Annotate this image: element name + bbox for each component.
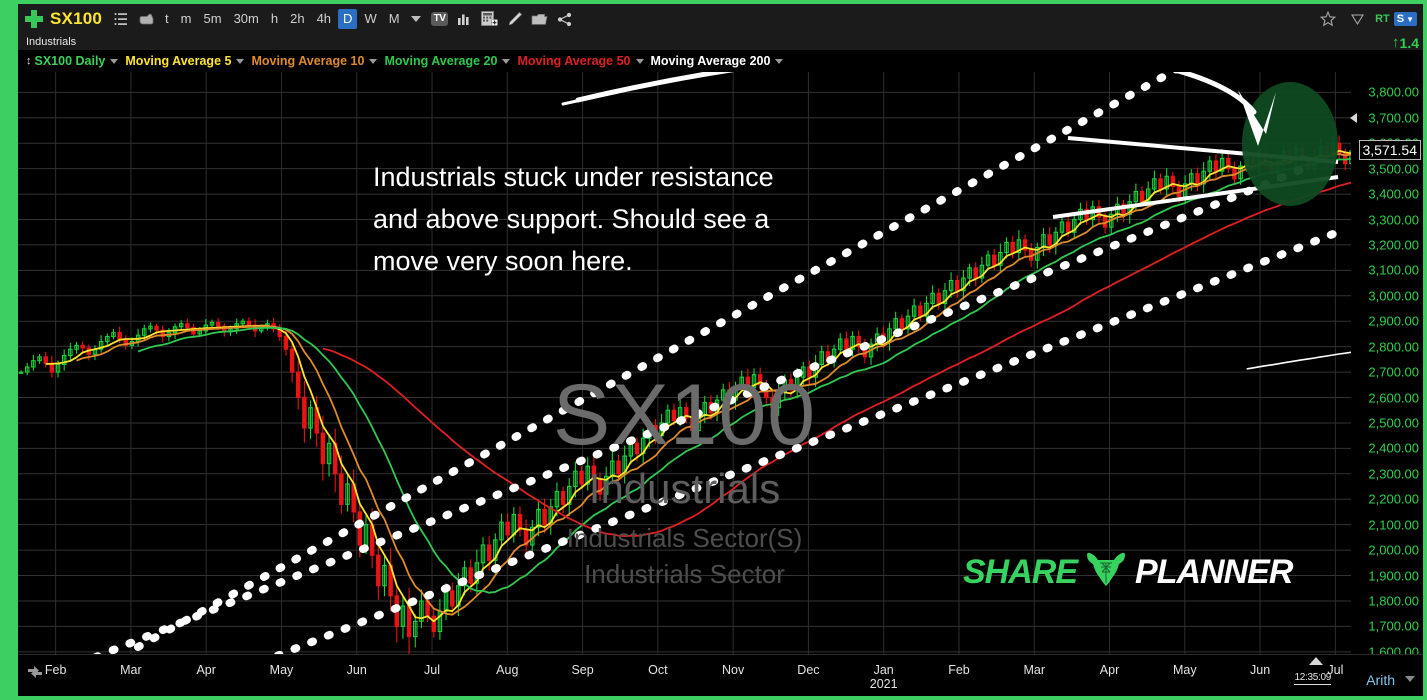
time-tick-month: Jun — [347, 663, 367, 677]
s-badge[interactable]: S ▼ — [1394, 12, 1417, 26]
candle-body — [407, 606, 410, 637]
price-tick-label: 2,500.00 — [1368, 415, 1419, 430]
timeframe-d[interactable]: D — [338, 9, 357, 29]
timeframe-5m[interactable]: 5m — [199, 9, 227, 29]
candle-body — [654, 425, 657, 435]
legend-label-ma50: Moving Average 50 — [517, 54, 630, 68]
price-change-value: 1.4 — [1400, 35, 1419, 51]
refresh-icon[interactable] — [24, 661, 46, 688]
time-tick-month: May — [270, 663, 294, 677]
price-tick-label: 2,300.00 — [1368, 466, 1419, 481]
timeframe-m-monthly[interactable]: M — [384, 9, 405, 29]
up-arrow-icon: ↑ — [1392, 34, 1400, 51]
time-tick-label: May — [1173, 663, 1197, 677]
time-tick-month: May — [1173, 663, 1197, 677]
candle-body — [580, 471, 583, 484]
time-tick-label: Mar — [1023, 663, 1045, 677]
candle-body — [1066, 222, 1069, 232]
time-tick-label: Apr — [196, 663, 215, 677]
time-tick-label: Apr — [1100, 663, 1119, 677]
clock-label: 12:35:09 — [1294, 672, 1331, 685]
legend-item-ma200[interactable]: Moving Average 200 — [651, 54, 784, 68]
candle-body — [487, 545, 490, 560]
candle-body — [543, 509, 546, 524]
candle-body — [919, 306, 922, 316]
chevron-down-icon[interactable] — [411, 16, 421, 22]
candle-body — [617, 461, 620, 474]
candle-body — [216, 322, 219, 326]
candle-body — [672, 410, 675, 420]
price-change-indicator: ↑ 1.4 — [1392, 34, 1419, 51]
price-tick-label: 3,400.00 — [1368, 187, 1419, 202]
price-tick-label: 3,200.00 — [1368, 237, 1419, 252]
chevron-down-icon[interactable] — [1405, 676, 1415, 682]
candle-body — [845, 339, 848, 349]
price-tick-label: 3,800.00 — [1368, 85, 1419, 100]
time-tick-label: Dec — [797, 663, 819, 677]
price-tick-label: 2,700.00 — [1368, 365, 1419, 380]
legend-item-ma10[interactable]: Moving Average 10 — [251, 54, 377, 68]
candle-body — [1196, 174, 1199, 184]
time-tick-label: Jul — [424, 663, 440, 677]
scale-mode-label[interactable]: Arith — [1366, 672, 1395, 688]
chevron-down-icon[interactable] — [502, 59, 510, 64]
price-tick-label: 2,400.00 — [1368, 441, 1419, 456]
candle-body — [561, 492, 564, 505]
time-tick-month: Apr — [1100, 663, 1119, 677]
price-tick-label: 1,800.00 — [1368, 593, 1419, 608]
candle-body — [1214, 161, 1217, 171]
time-tick-month: Jul — [424, 663, 440, 677]
candle-body — [118, 333, 121, 339]
legend-label-ma10: Moving Average 10 — [251, 54, 364, 68]
time-tick-label: Jun — [347, 663, 367, 677]
candle-body — [451, 591, 454, 606]
time-tick-label: Feb — [45, 663, 67, 677]
candle-body — [1011, 242, 1014, 252]
time-tick-label: Oct — [648, 663, 667, 677]
chevron-down-icon[interactable] — [236, 59, 244, 64]
folder-icon[interactable] — [529, 8, 551, 30]
time-tick-label: May — [270, 663, 294, 677]
price-tick-label: 1,700.00 — [1368, 619, 1419, 634]
time-tick-label: Aug — [496, 663, 518, 677]
chart-application: SX100 t m 5m 30m h 2h 4h D W M TV — [18, 4, 1423, 696]
time-tick-month: Mar — [1023, 663, 1045, 677]
timeframe-t[interactable]: t — [160, 9, 174, 29]
timeframe-w[interactable]: W — [359, 9, 381, 29]
price-chart[interactable]: SX100 Industrials Industrials Sector(S) … — [18, 72, 1351, 654]
top-toolbar: SX100 t m 5m 30m h 2h 4h D W M TV — [18, 4, 1423, 34]
plus-icon[interactable] — [24, 9, 44, 29]
time-tick-month: Jan — [874, 663, 894, 677]
price-tick-label: 2,000.00 — [1368, 543, 1419, 558]
annotation-leader-line — [563, 92, 618, 104]
list-icon[interactable] — [110, 8, 132, 30]
legend-label-ma20: Moving Average 20 — [384, 54, 497, 68]
time-tick-label: Mar — [120, 663, 142, 677]
symbol-ticker[interactable]: SX100 — [50, 9, 102, 29]
legend-label-ma200: Moving Average 200 — [651, 54, 771, 68]
candle-body — [290, 349, 293, 372]
candle-body — [1048, 235, 1051, 245]
candle-body — [284, 336, 287, 349]
hand-pointer-icon[interactable] — [135, 8, 157, 30]
time-axis[interactable]: FebMarAprMayJunJulAugSepOctNovDecJan2021… — [18, 654, 1423, 696]
candle-body — [937, 293, 940, 303]
candle-body — [993, 255, 996, 265]
logo-text-share: SHARE — [963, 553, 1077, 592]
candle-body — [900, 319, 903, 329]
candle-body — [340, 474, 343, 505]
shareplanner-logo: SHARE PLANNER — [963, 550, 1292, 595]
highlight-ellipse-breakout-zone — [1242, 82, 1338, 206]
star-icon[interactable] — [1317, 8, 1339, 30]
price-tick-label: 1,900.00 — [1368, 568, 1419, 583]
candle-body — [506, 522, 509, 535]
time-tick-month: Dec — [797, 663, 819, 677]
candle-body — [956, 281, 959, 291]
candle-body — [432, 616, 435, 631]
realtime-label: RT — [1375, 13, 1390, 25]
time-tick-month: Feb — [45, 663, 67, 677]
timeframe-30m[interactable]: 30m — [229, 9, 264, 29]
price-tick-label: 2,800.00 — [1368, 339, 1419, 354]
price-tick-label: 2,900.00 — [1368, 314, 1419, 329]
time-tick-label: Jan2021 — [870, 663, 898, 691]
candle-body — [321, 433, 324, 464]
last-price-label: 3,571.54 — [1359, 140, 1422, 160]
legend-label-ma5: Moving Average 5 — [125, 54, 231, 68]
tv-badge-icon[interactable]: TV — [429, 8, 451, 30]
indicator-legend: ↕ SX100 Daily Moving Average 5 Moving Av… — [18, 50, 1423, 72]
time-tick-month: Oct — [648, 663, 667, 677]
time-tick-label: Nov — [722, 663, 744, 677]
bull-head-icon — [1083, 550, 1129, 595]
candle-body — [247, 321, 250, 325]
timeframe-2h[interactable]: 2h — [285, 9, 309, 29]
toolbar-right-group: RT S ▼ — [1317, 8, 1423, 30]
legend-item-ma50[interactable]: Moving Average 50 — [517, 54, 643, 68]
price-tick-label: 3,300.00 — [1368, 212, 1419, 227]
time-tick-month: Jun — [1250, 663, 1270, 677]
price-tick-label: 3,100.00 — [1368, 263, 1419, 278]
chevron-down-icon[interactable] — [110, 59, 118, 64]
price-tick-label: 2,100.00 — [1368, 517, 1419, 532]
time-tick-month: Nov — [722, 663, 744, 677]
tv-badge-label: TV — [431, 12, 449, 26]
time-tick-month: Sep — [571, 663, 593, 677]
candle-body — [635, 443, 638, 453]
logo-text-planner: PLANNER — [1135, 553, 1292, 592]
candle-body — [81, 345, 84, 348]
chevron-down-icon[interactable] — [636, 59, 644, 64]
candle-body — [771, 398, 774, 408]
timeframe-h[interactable]: h — [266, 9, 283, 29]
scroll-up-triangle-icon[interactable] — [1309, 657, 1323, 665]
chevron-down-icon[interactable] — [775, 59, 783, 64]
annotation-line-3: move very soon here. — [373, 240, 933, 282]
candle-body — [155, 326, 158, 330]
price-tick-label: 3,000.00 — [1368, 288, 1419, 303]
time-tick-month: Apr — [196, 663, 215, 677]
application-window: SX100 t m 5m 30m h 2h 4h D W M TV — [0, 0, 1427, 700]
candle-body — [358, 512, 361, 545]
price-axis-pointer-icon — [1350, 113, 1357, 123]
chevron-down-icon[interactable] — [369, 59, 377, 64]
candle-body — [974, 268, 977, 278]
symbol-description: Industrials — [18, 34, 1423, 50]
time-tick-label: Feb — [948, 663, 970, 677]
time-tick-label: Sep — [571, 663, 593, 677]
timeframe-m[interactable]: m — [176, 9, 197, 29]
candle-body — [469, 568, 472, 583]
pencil-icon[interactable] — [504, 8, 526, 30]
candle-body — [691, 418, 694, 431]
timeframe-4h[interactable]: 4h — [312, 9, 336, 29]
annotation-line-1: Industrials stuck under resistance — [373, 156, 933, 198]
legend-item-ma5[interactable]: Moving Average 5 — [125, 54, 244, 68]
time-tick-month: Feb — [948, 663, 970, 677]
share-network-icon[interactable] — [554, 8, 576, 30]
time-tick-label: Jun — [1250, 663, 1270, 677]
calculator-plus-icon[interactable] — [479, 8, 501, 30]
legend-item-ma20[interactable]: Moving Average 20 — [384, 54, 510, 68]
price-tick-label: 2,200.00 — [1368, 492, 1419, 507]
candle-body — [1140, 192, 1143, 202]
time-tick-year: 2021 — [870, 677, 898, 691]
price-tick-label: 2,600.00 — [1368, 390, 1419, 405]
flag-icon[interactable] — [1346, 8, 1368, 30]
candle-body — [377, 555, 380, 586]
chart-text-annotation: Industrials stuck under resistance and a… — [373, 156, 933, 282]
up-down-arrow-icon[interactable]: ↕ — [26, 55, 32, 67]
price-tick-label: 3,500.00 — [1368, 161, 1419, 176]
bar-chart-icon[interactable] — [454, 8, 476, 30]
candle-body — [746, 377, 749, 387]
annotation-line-2: and above support. Should see a — [373, 198, 933, 240]
s-badge-caret-icon: ▼ — [1406, 15, 1414, 24]
candle-body — [297, 372, 300, 397]
legend-item-symbol[interactable]: SX100 Daily — [35, 54, 119, 68]
time-tick-month: Mar — [120, 663, 142, 677]
price-axis[interactable]: 3,800.003,700.003,600.003,500.003,400.00… — [1351, 72, 1423, 654]
candle-body — [303, 398, 306, 429]
legend-label-symbol: SX100 Daily — [35, 54, 106, 68]
candle-body — [1159, 179, 1162, 189]
s-badge-label: S — [1397, 13, 1404, 25]
candle-body — [186, 324, 189, 328]
candle-body — [44, 357, 47, 363]
time-tick-month: Aug — [496, 663, 518, 677]
price-tick-label: 3,700.00 — [1368, 110, 1419, 125]
